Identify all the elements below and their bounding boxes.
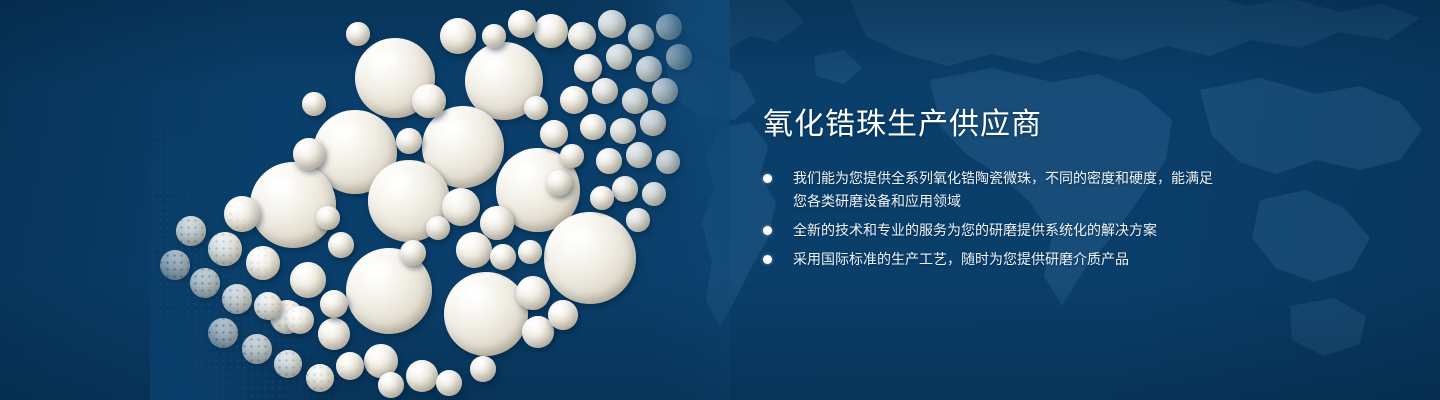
bead — [590, 186, 614, 210]
bead — [642, 182, 666, 206]
bead — [508, 10, 536, 38]
bead — [574, 54, 602, 82]
bead — [548, 300, 578, 330]
list-item: 采用国际标准的生产工艺，随时为您提供研磨介质产品 — [763, 248, 1223, 271]
bead — [406, 360, 438, 392]
bead — [426, 216, 450, 240]
bead — [626, 142, 652, 168]
hero-banner: 氧化锆珠生产供应商 我们能为您提供全系列氧化锆陶瓷微珠，不同的密度和硬度，能满足… — [0, 0, 1440, 400]
bead — [482, 24, 506, 48]
bead — [546, 170, 572, 196]
bead — [598, 10, 626, 38]
bullet-dot-icon — [763, 255, 772, 264]
list-item: 我们能为您提供全系列氧化锆陶瓷微珠，不同的密度和硬度，能满足您各类研磨设备和应用… — [763, 167, 1223, 213]
bead — [656, 14, 682, 40]
bead — [534, 14, 568, 48]
bead — [640, 110, 666, 136]
list-item-label: 全新的技术和专业的服务为您的研磨提供系统化的解决方案 — [793, 219, 1223, 242]
bead — [568, 22, 596, 50]
bead — [274, 350, 302, 378]
feature-bullet-list: 我们能为您提供全系列氧化锆陶瓷微珠，不同的密度和硬度，能满足您各类研磨设备和应用… — [763, 167, 1223, 271]
bead — [596, 148, 622, 174]
bead — [516, 276, 550, 310]
bead — [636, 56, 662, 82]
bead — [208, 318, 238, 348]
list-item: 全新的技术和专业的服务为您的研磨提供系统化的解决方案 — [763, 219, 1223, 242]
headline: 氧化锆珠生产供应商 — [763, 105, 1223, 145]
bead — [246, 246, 280, 280]
bead — [580, 114, 606, 140]
bead — [612, 176, 638, 202]
bead — [160, 250, 190, 280]
product-image-zirconia-beads — [150, 0, 730, 400]
bead — [302, 92, 326, 116]
bead — [560, 86, 588, 114]
bead — [208, 232, 242, 266]
bead — [440, 18, 476, 54]
bead — [242, 334, 272, 364]
bead — [318, 318, 350, 350]
list-item-label: 采用国际标准的生产工艺，随时为您提供研磨介质产品 — [793, 248, 1223, 271]
bead — [378, 372, 404, 398]
bead — [606, 44, 632, 70]
bead — [622, 88, 648, 114]
bead — [436, 370, 462, 396]
bead — [652, 78, 678, 104]
bead — [444, 272, 528, 356]
bullet-dot-icon — [763, 226, 772, 235]
bead — [456, 232, 492, 268]
bead — [290, 262, 326, 298]
bead — [666, 44, 692, 70]
bead — [400, 240, 426, 266]
bead — [222, 284, 252, 314]
bead — [320, 290, 348, 318]
bead — [592, 78, 618, 104]
bead — [628, 24, 654, 50]
bead — [470, 356, 496, 382]
bead — [286, 306, 314, 334]
beads-cluster — [150, 0, 730, 400]
bead — [540, 120, 568, 148]
bead — [490, 244, 516, 270]
bead — [316, 206, 340, 230]
bead — [610, 118, 636, 144]
bead — [560, 144, 584, 168]
bead — [176, 216, 206, 246]
bead — [412, 84, 446, 118]
marketing-copy-block: 氧化锆珠生产供应商 我们能为您提供全系列氧化锆陶瓷微珠，不同的密度和硬度，能满足… — [763, 105, 1223, 271]
bead — [190, 268, 220, 298]
bead — [544, 212, 636, 304]
bead — [656, 150, 680, 174]
bead — [293, 138, 325, 170]
bead — [336, 352, 364, 380]
bead — [250, 162, 336, 248]
bead — [306, 364, 334, 392]
bullet-dot-icon — [763, 174, 772, 183]
bead — [524, 96, 548, 120]
bead — [518, 240, 542, 264]
bead — [396, 128, 422, 154]
bead — [346, 22, 370, 46]
bead — [224, 196, 260, 232]
bead — [254, 292, 282, 320]
list-item-label: 我们能为您提供全系列氧化锆陶瓷微珠，不同的密度和硬度，能满足您各类研磨设备和应用… — [793, 167, 1223, 213]
bead — [328, 232, 354, 258]
bead — [626, 208, 650, 232]
